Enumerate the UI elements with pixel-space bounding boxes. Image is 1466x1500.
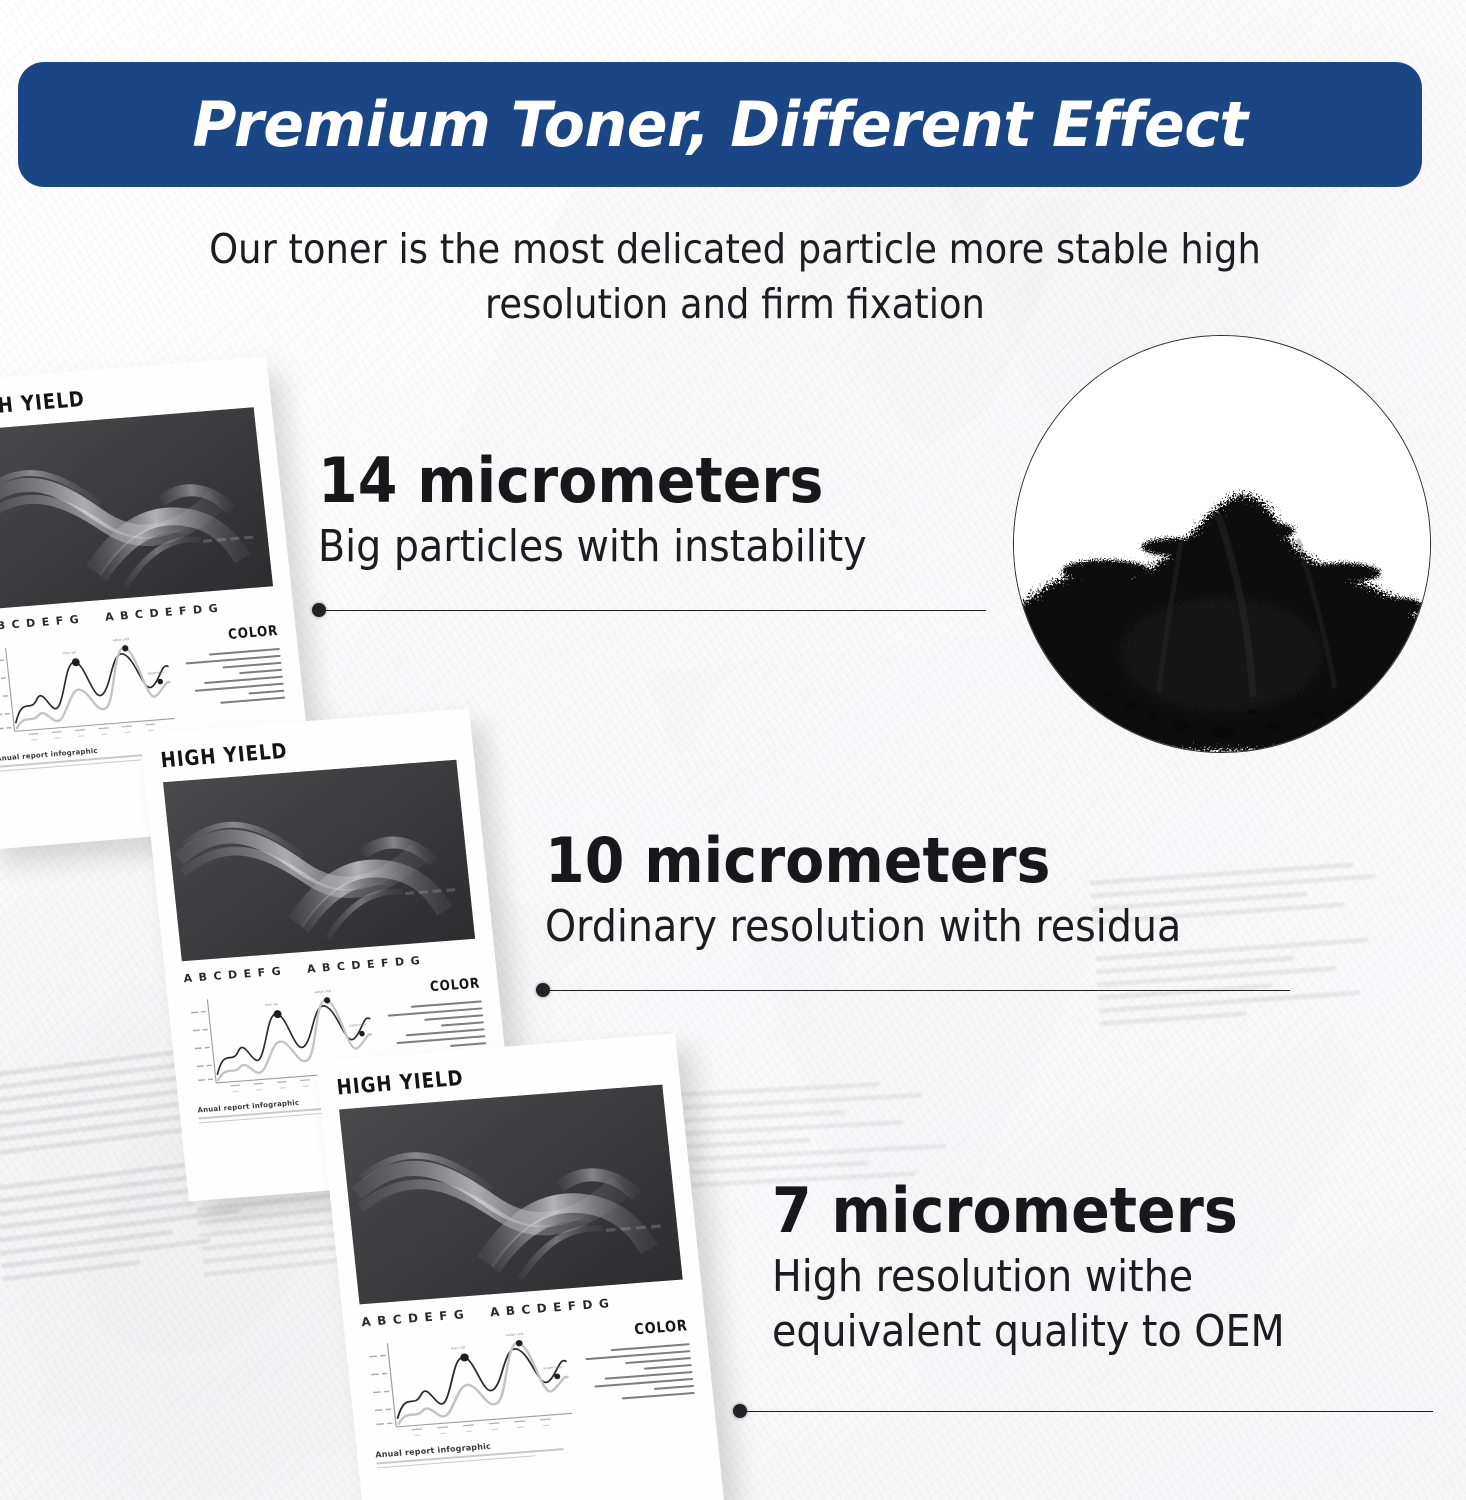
header-banner: Premium Toner, Different Effect bbox=[18, 62, 1422, 187]
infographic-canvas: Premium Toner, Different Effect Our tone… bbox=[0, 0, 1466, 1500]
callout-10-micrometers: 10 micrometers Ordinary resolution with … bbox=[545, 828, 1252, 954]
callout-description-label: Big particles with instability bbox=[318, 521, 867, 574]
poster-color-body-lines bbox=[181, 648, 285, 707]
poster-photo bbox=[163, 760, 475, 962]
subtitle-text: Our toner is the most delicated particle… bbox=[173, 222, 1298, 331]
poster-color-title: COLOR bbox=[429, 976, 481, 996]
poster-photo bbox=[0, 407, 273, 610]
svg-text:value unit: value unit bbox=[314, 989, 332, 994]
callout-description-label: Ordinary resolution with residua bbox=[545, 901, 1181, 954]
poster-photo bbox=[339, 1085, 683, 1305]
poster-color-section: COLOR bbox=[577, 1316, 700, 1455]
poster-color-title: COLOR bbox=[633, 1316, 688, 1338]
poster-color-title: COLOR bbox=[227, 623, 279, 643]
connector-line-1 bbox=[312, 603, 986, 617]
callout-description-label-2: equivalent quality to OEM bbox=[772, 1306, 1285, 1359]
poster-color-body-lines bbox=[580, 1343, 695, 1402]
svg-text:supervisor: supervisor bbox=[349, 1022, 367, 1027]
svg-text:max val: max val bbox=[450, 1346, 465, 1351]
callout-14-micrometers: 14 micrometers Big particles with instab… bbox=[318, 448, 928, 574]
svg-text:supervisor: supervisor bbox=[543, 1365, 563, 1370]
svg-text:supervisor: supervisor bbox=[147, 670, 165, 675]
callout-size-label: 7 micrometers bbox=[772, 1178, 1296, 1243]
connector-line-3 bbox=[733, 1404, 1433, 1418]
toner-powder-photo bbox=[1013, 335, 1431, 753]
callout-size-label: 10 micrometers bbox=[545, 828, 1195, 893]
svg-text:max val: max val bbox=[63, 650, 77, 655]
poster-sheet-3: HIGH YIELD bbox=[316, 1033, 724, 1500]
poster-chart: max val value unit supervisor bbox=[363, 1326, 580, 1472]
connector-line-2 bbox=[536, 983, 1290, 997]
callout-size-label: 14 micrometers bbox=[318, 448, 879, 513]
svg-text:max val: max val bbox=[265, 1002, 279, 1007]
callout-description-label: High resolution withe bbox=[772, 1251, 1285, 1304]
svg-text:value unit: value unit bbox=[505, 1332, 524, 1337]
callout-7-micrometers: 7 micrometers High resolution withe equi… bbox=[772, 1178, 1342, 1359]
svg-text:value unit: value unit bbox=[112, 637, 130, 642]
banner-title: Premium Toner, Different Effect bbox=[192, 94, 1247, 156]
